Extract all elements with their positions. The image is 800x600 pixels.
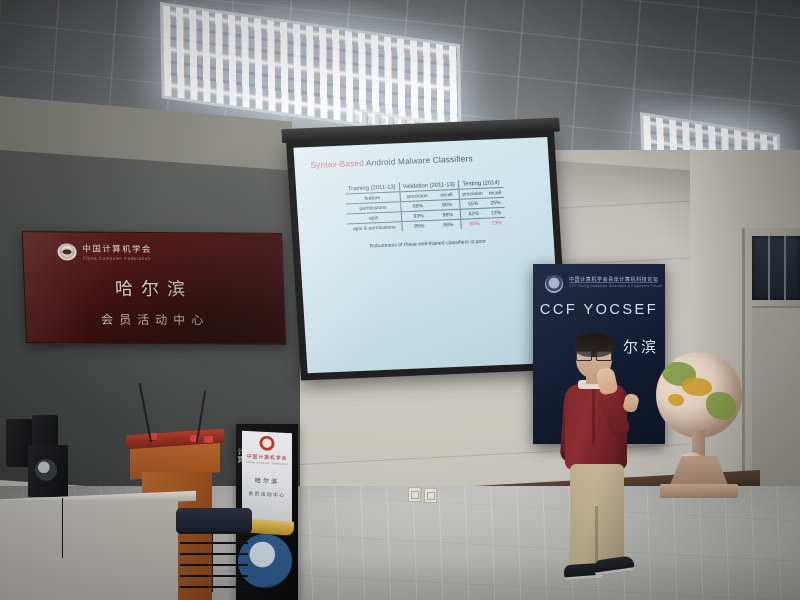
ccf-logo-icon	[259, 436, 275, 453]
shoe-sole	[595, 567, 635, 576]
decorative-globe	[648, 352, 752, 504]
row-testing-precision: 60%	[460, 218, 487, 229]
projected-slide: Syntax-Based Android Malware Classifiers…	[293, 137, 561, 373]
row-validation-precision: 95%	[401, 220, 436, 231]
row-validation-recall: 98%	[436, 219, 461, 229]
globe-tray	[660, 484, 738, 498]
conference-room-photo: Syntax-Based Android Malware Classifiers…	[0, 0, 800, 600]
slide-results-table: Training (2011-13) Validation (2011-13) …	[345, 178, 507, 234]
row-feature: apis & permissions	[347, 222, 402, 234]
shoe-sole	[564, 575, 602, 581]
banner-gloss	[23, 232, 285, 344]
blue-banner-title: CCF YOCSEF	[533, 302, 665, 318]
chair-frame	[180, 532, 248, 588]
stacked-chair	[176, 508, 252, 588]
presenter-hand-left	[622, 393, 640, 414]
window-mullion	[768, 236, 770, 300]
globe-continent	[682, 378, 712, 396]
slide-title-rest: Android Malware Classifiers	[364, 154, 473, 168]
chair-seat	[176, 508, 252, 534]
row-testing-recall: 23%	[487, 217, 506, 227]
podium-banner-city: 哈尔滨	[242, 475, 292, 487]
equipment-cabinet	[0, 500, 178, 600]
screen-frame: Syntax-Based Android Malware Classifiers…	[286, 130, 569, 381]
slide-title: Syntax-Based Android Malware Classifiers	[310, 152, 534, 170]
presenter-sweater-placket	[592, 386, 595, 444]
slide-title-highlight: Syntax-Based	[310, 159, 364, 170]
blue-banner-org-en: CCF Young Computer Scientists & Engineer…	[569, 284, 662, 288]
ccf-logo-icon	[545, 275, 563, 293]
globe-continent	[706, 392, 736, 420]
speaker-cone	[35, 459, 57, 481]
presenter-leg-split	[595, 506, 598, 568]
presenter-glasses-icon	[576, 351, 612, 359]
projection-screen: Syntax-Based Android Malware Classifiers…	[286, 130, 569, 381]
pa-speaker-set	[6, 413, 92, 501]
blue-banner-divider	[569, 282, 657, 283]
slide-caption: Robustness of these well-trained classif…	[316, 236, 540, 251]
speaker-cable	[62, 498, 63, 558]
ccf-red-banner: 中国计算机学会 China Computer Federation 哈尔滨 会员…	[22, 231, 287, 345]
door-transom-glass	[752, 236, 800, 300]
globe-continent	[668, 394, 684, 406]
podium-banner-subtitle: 会员活动中心	[242, 491, 292, 500]
globe-sphere	[656, 352, 742, 438]
presenter	[548, 336, 652, 598]
window-mullion	[784, 236, 786, 300]
wall-outlet[interactable]	[424, 488, 437, 503]
lectern-control-button[interactable]	[204, 436, 213, 443]
wall-outlet[interactable]	[408, 487, 421, 502]
